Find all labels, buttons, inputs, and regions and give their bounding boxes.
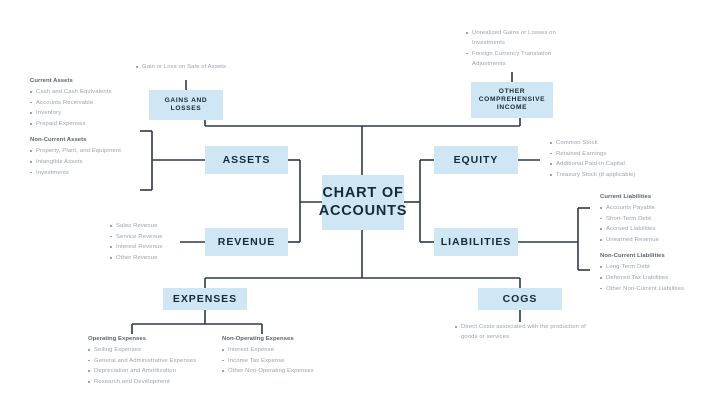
- node-liabilities-label: LIABILITIES: [441, 236, 511, 249]
- detail-list-item: Unrealized Gains or Losses on Investment…: [466, 28, 586, 48]
- details-liabilities: Current LiabilitiesAccounts PayableShort…: [600, 192, 710, 294]
- detail-list-item: Accrued Liabilities: [600, 224, 710, 234]
- detail-list-item: Short-Term Debt: [600, 214, 710, 224]
- detail-list-item: Other Revenue: [110, 253, 205, 263]
- detail-list-item: Depreciation and Amortization: [88, 366, 216, 376]
- node-other-comprehensive-income[interactable]: OTHER COMPREHENSIVE INCOME: [471, 82, 553, 118]
- detail-group: Current AssetsCash and Cash EquivalentsA…: [30, 76, 128, 129]
- detail-list: Cash and Cash EquivalentsAccounts Receiv…: [30, 87, 128, 129]
- node-gains-and-losses[interactable]: GAINS AND LOSSES: [149, 90, 223, 120]
- detail-list: Accounts PayableShort-Term DebtAccrued L…: [600, 203, 710, 245]
- detail-group: Common StockRetained EarningsAdditional …: [550, 138, 690, 180]
- detail-list-item: Common Stock: [550, 138, 690, 148]
- details-cogs: Direct Costs associated with the product…: [455, 322, 590, 343]
- node-gains-and-losses-label: GAINS AND LOSSES: [149, 97, 223, 113]
- detail-list-item: Treasury Stock (if applicable): [550, 170, 690, 180]
- node-revenue-label: REVENUE: [218, 236, 275, 249]
- node-chart-of-accounts-label: CHART OF ACCOUNTS: [319, 185, 408, 220]
- node-other-comprehensive-income-label: OTHER COMPREHENSIVE INCOME: [471, 88, 553, 112]
- detail-group-title: Non-Current Assets: [30, 135, 128, 145]
- details-revenue: Sales RevenueService RevenueInterest Rev…: [110, 221, 205, 264]
- detail-list: Direct Costs associated with the product…: [455, 322, 590, 342]
- detail-list-item: Investments: [30, 168, 128, 178]
- detail-list-item: Sales Revenue: [110, 221, 205, 231]
- details-expenses-non-operating: Non-Operating ExpensesInterest ExpenseIn…: [222, 334, 372, 377]
- detail-list-item: Deferred Tax Liabilities: [600, 273, 710, 283]
- detail-list-item: Other Non-Current Liabilities: [600, 284, 710, 294]
- node-equity-label: EQUITY: [454, 154, 499, 167]
- detail-list-item: Property, Plant, and Equipment: [30, 146, 128, 156]
- detail-group: Gain or Loss on Sale of Assets: [136, 62, 306, 72]
- detail-list: Gain or Loss on Sale of Assets: [136, 62, 306, 72]
- node-expenses-label: EXPENSES: [173, 293, 237, 306]
- detail-list: Long-Term DebtDeferred Tax LiabilitiesOt…: [600, 262, 710, 293]
- detail-list: Unrealized Gains or Losses on Investment…: [466, 28, 586, 69]
- details-expenses: Operating ExpensesSelling ExpensesGenera…: [88, 334, 216, 388]
- detail-list-item: Unearned Revenue: [600, 235, 710, 245]
- detail-list-item: Interest Revenue: [110, 242, 205, 252]
- detail-list-item: Selling Expenses: [88, 345, 216, 355]
- node-cogs-label: COGS: [503, 293, 538, 306]
- detail-group: Current LiabilitiesAccounts PayableShort…: [600, 192, 710, 245]
- node-revenue[interactable]: REVENUE: [205, 228, 288, 256]
- detail-list-item: Accounts Receivable: [30, 98, 128, 108]
- details-assets: Current AssetsCash and Cash EquivalentsA…: [30, 76, 128, 178]
- detail-list-item: Direct Costs associated with the product…: [455, 322, 590, 342]
- detail-list-item: Research and Development: [88, 377, 216, 387]
- detail-list-item: General and Administrative Expenses: [88, 356, 216, 366]
- node-liabilities[interactable]: LIABILITIES: [434, 228, 518, 256]
- node-expenses[interactable]: EXPENSES: [163, 288, 247, 310]
- detail-list-item: Long-Term Debt: [600, 262, 710, 272]
- details-equity: Common StockRetained EarningsAdditional …: [550, 138, 690, 181]
- detail-group: Non-Current AssetsProperty, Plant, and E…: [30, 135, 128, 178]
- detail-group-title: Non-Current Liabilities: [600, 251, 710, 261]
- detail-list-item: Other Non-Operating Expenses: [222, 366, 372, 376]
- detail-list-item: Accounts Payable: [600, 203, 710, 213]
- node-assets-label: ASSETS: [223, 154, 271, 167]
- detail-list: Common StockRetained EarningsAdditional …: [550, 138, 690, 180]
- detail-group-title: Non-Operating Expenses: [222, 334, 372, 344]
- node-equity[interactable]: EQUITY: [434, 146, 518, 174]
- detail-list-item: Income Tax Expense: [222, 356, 372, 366]
- detail-list-item: Foreign Currency Translation Adjustments: [466, 49, 586, 69]
- detail-list: Interest ExpenseIncome Tax ExpenseOther …: [222, 345, 372, 376]
- detail-group-title: Current Assets: [30, 76, 128, 86]
- chart-of-accounts-diagram: GAINS AND LOSSES OTHER COMPREHENSIVE INC…: [0, 0, 720, 404]
- details-other-comprehensive-income: Unrealized Gains or Losses on Investment…: [466, 28, 586, 70]
- detail-list: Property, Plant, and EquipmentIntangible…: [30, 146, 128, 177]
- detail-list: Sales RevenueService RevenueInterest Rev…: [110, 221, 205, 263]
- detail-list-item: Intangible Assets: [30, 157, 128, 167]
- detail-list-item: Retained Earnings: [550, 149, 690, 159]
- detail-list-item: Service Revenue: [110, 232, 205, 242]
- detail-group-title: Operating Expenses: [88, 334, 216, 344]
- node-chart-of-accounts[interactable]: CHART OF ACCOUNTS: [322, 175, 404, 230]
- detail-list-item: Inventory: [30, 108, 128, 118]
- detail-group: Sales RevenueService RevenueInterest Rev…: [110, 221, 205, 263]
- detail-list-item: Additional Paid-in Capital: [550, 159, 690, 169]
- node-assets[interactable]: ASSETS: [205, 146, 288, 174]
- detail-list-item: Gain or Loss on Sale of Assets: [136, 62, 306, 72]
- detail-group: Non-Operating ExpensesInterest ExpenseIn…: [222, 334, 372, 377]
- details-gains-and-losses: Gain or Loss on Sale of Assets: [136, 62, 306, 73]
- detail-list: Selling ExpensesGeneral and Administrati…: [88, 345, 216, 387]
- detail-list-item: Interest Expense: [222, 345, 372, 355]
- detail-list-item: Cash and Cash Equivalents: [30, 87, 128, 97]
- detail-group-title: Current Liabilities: [600, 192, 710, 202]
- detail-group: Unrealized Gains or Losses on Investment…: [466, 28, 586, 69]
- detail-list-item: Prepaid Expenses: [30, 119, 128, 129]
- detail-group: Non-Current LiabilitiesLong-Term DebtDef…: [600, 251, 710, 294]
- detail-group: Operating ExpensesSelling ExpensesGenera…: [88, 334, 216, 387]
- detail-group: Direct Costs associated with the product…: [455, 322, 590, 342]
- node-cogs[interactable]: COGS: [478, 288, 562, 310]
